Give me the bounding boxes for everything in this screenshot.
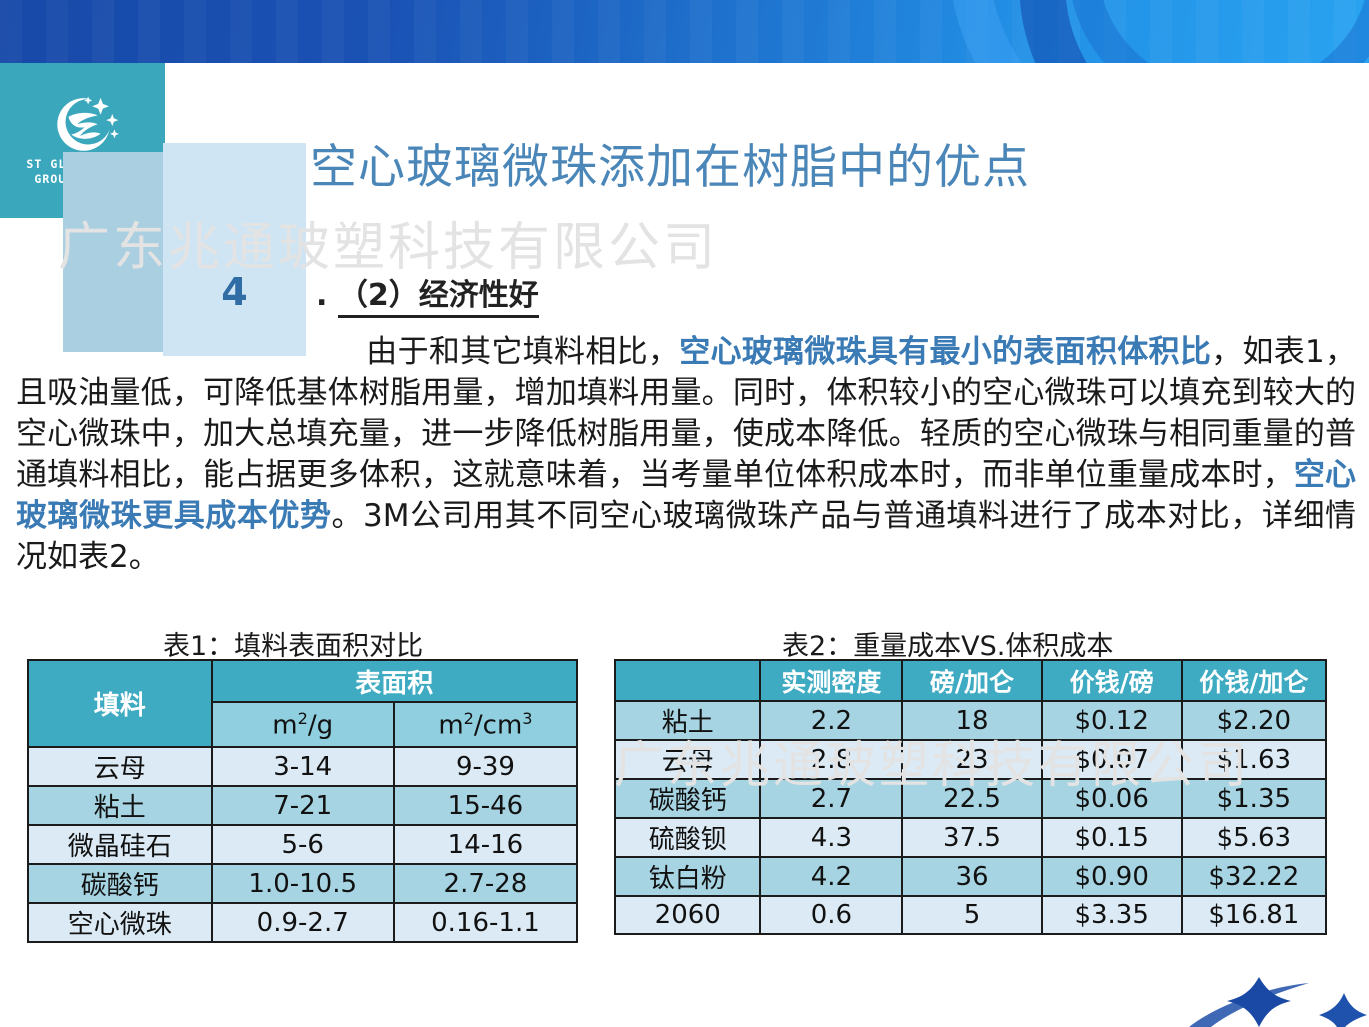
- table1-cell-v2: 14-16: [394, 825, 577, 864]
- table-row: 微晶硅石 5-6 14-16: [28, 825, 577, 864]
- table-row: 空心微珠 0.9-2.7 0.16-1.1: [28, 903, 577, 942]
- table-row: 钛白粉 4.2 36 $0.90 $32.22: [615, 857, 1326, 896]
- table1-cell-name: 粘土: [28, 786, 212, 825]
- table1-cell-v2: 15-46: [394, 786, 577, 825]
- table2-cell-pricegal: $5.63: [1182, 818, 1326, 857]
- table2-cell-pricelb: $0.06: [1042, 779, 1182, 818]
- table2-cell-density: 2.2: [760, 701, 902, 740]
- table2-cell-pricegal: $16.81: [1182, 896, 1326, 934]
- table2-header-price-per-lb: 价钱/磅: [1042, 660, 1182, 701]
- table2-cell-name: 碳酸钙: [615, 779, 760, 818]
- table2-cell-pricelb: $0.12: [1042, 701, 1182, 740]
- table1-cell-v1: 1.0-10.5: [212, 864, 394, 903]
- table-row: 粘土 2.2 18 $0.12 $2.20: [615, 701, 1326, 740]
- table2-caption: 表2：重量成本VS.体积成本: [782, 624, 1113, 663]
- table2-cell-name: 钛白粉: [615, 857, 760, 896]
- table-row: 云母 3-14 9-39: [28, 747, 577, 786]
- table2-cell-density: 2.7: [760, 779, 902, 818]
- table2-cell-density: 4.3: [760, 818, 902, 857]
- table1-cell-name: 碳酸钙: [28, 864, 212, 903]
- table2-header-lb-per-gal: 磅/加仑: [902, 660, 1041, 701]
- table2-cell-lbgal: 23: [902, 740, 1041, 779]
- table2-cell-pricegal: $1.35: [1182, 779, 1326, 818]
- table2-cell-name: 硫酸钡: [615, 818, 760, 857]
- footer-sparkle-decor-icon: [949, 969, 1369, 1027]
- footer-bar: 兆通玻塑集团有限公司 Siu Tung Glass&Plastic Group …: [0, 969, 1369, 1027]
- table-row: 云母 2.8 23 $0.07 $1.63: [615, 740, 1326, 779]
- table1-cell-name: 云母: [28, 747, 212, 786]
- table-row: 粘土 7-21 15-46: [28, 786, 577, 825]
- table1-cell-v1: 3-14: [212, 747, 394, 786]
- table-filler-surface-area: 填料 表面积 m2/g m2/cm3 云母 3-14 9-39 粘土 7-21 …: [27, 659, 578, 943]
- table2-cell-lbgal: 36: [902, 857, 1041, 896]
- decor-block-medium: [63, 152, 166, 352]
- section-bullet: .: [316, 278, 327, 313]
- table2-cell-pricelb: $3.35: [1042, 896, 1182, 934]
- table2-header-price-per-gal: 价钱/加仑: [1182, 660, 1326, 701]
- table2-cell-name: 云母: [615, 740, 760, 779]
- body-part-1: 由于和其它填料相比，: [366, 334, 679, 370]
- footer-brand: 兆通玻塑集团有限公司 Siu Tung Glass&Plastic Group …: [38, 978, 319, 1012]
- table2-cell-lbgal: 18: [902, 701, 1041, 740]
- table1-cell-name: 空心微珠: [28, 903, 212, 942]
- table2-cell-pricegal: $2.20: [1182, 701, 1326, 740]
- footer-company-cn: 兆通玻塑集团有限公司: [81, 979, 319, 999]
- table1-cell-v1: 7-21: [212, 786, 394, 825]
- decor-block-light: [163, 143, 306, 356]
- table2-cell-pricelb: $0.07: [1042, 740, 1182, 779]
- table-row: 硫酸钡 4.3 37.5 $0.15 $5.63: [615, 818, 1326, 857]
- footer-company-names: 兆通玻塑集团有限公司 Siu Tung Glass&Plastic Group …: [81, 979, 319, 1011]
- footer-company-en: Siu Tung Glass&Plastic Group Co Limited: [81, 1001, 319, 1012]
- section-heading-text: （2）经济性好: [338, 278, 539, 318]
- table1-header-name: 填料: [28, 660, 212, 747]
- table2-cell-lbgal: 37.5: [902, 818, 1041, 857]
- table-row: 碳酸钙 2.7 22.5 $0.06 $1.35: [615, 779, 1326, 818]
- table2-header-blank: [615, 660, 760, 701]
- table2-cell-density: 0.6: [760, 896, 902, 934]
- top-banner: [0, 0, 1369, 63]
- page-title: 空心玻璃微珠添加在树脂中的优点: [310, 128, 1210, 197]
- table1-header-group: 表面积: [212, 660, 577, 702]
- table2-header-row: 实测密度 磅/加仑 价钱/磅 价钱/加仑: [615, 660, 1326, 701]
- table2-cell-pricelb: $0.15: [1042, 818, 1182, 857]
- table1-cell-v2: 0.16-1.1: [394, 903, 577, 942]
- table2-cell-pricelb: $0.90: [1042, 857, 1182, 896]
- table1-header-row-1: 填料 表面积: [28, 660, 577, 702]
- section-number: 4: [163, 268, 306, 316]
- table1-caption: 表1：填料表面积对比: [163, 624, 423, 663]
- table2-cell-lbgal: 22.5: [902, 779, 1041, 818]
- table2-cell-pricegal: $32.22: [1182, 857, 1326, 896]
- slide-root: ST GLASS BEADS GROUP HK LTD 4 广东兆通玻塑科技有限…: [0, 0, 1369, 1027]
- glass-bead-swirl-icon: [38, 978, 72, 1012]
- section-heading: . （2）经济性好: [316, 270, 539, 314]
- table1-cell-v1: 5-6: [212, 825, 394, 864]
- body-highlight-1: 空心玻璃微珠具有最小的表面积体积比: [679, 334, 1211, 370]
- table2-cell-pricegal: $1.63: [1182, 740, 1326, 779]
- table1-cell-v2: 2.7-28: [394, 864, 577, 903]
- table2-cell-lbgal: 5: [902, 896, 1041, 934]
- table1-cell-v1: 0.9-2.7: [212, 903, 394, 942]
- glass-bead-swirl-icon: [46, 95, 120, 155]
- table2-header-density: 实测密度: [760, 660, 902, 701]
- table-row: 2060 0.6 5 $3.35 $16.81: [615, 896, 1326, 934]
- table-weight-vs-volume-cost: 实测密度 磅/加仑 价钱/磅 价钱/加仑 粘土 2.2 18 $0.12 $2.…: [614, 659, 1327, 935]
- table2-cell-name: 粘土: [615, 701, 760, 740]
- table2-cell-density: 2.8: [760, 740, 902, 779]
- table1-cell-v2: 9-39: [394, 747, 577, 786]
- body-paragraph: 由于和其它填料相比，空心玻璃微珠具有最小的表面积体积比，如表1，且吸油量低，可降…: [16, 332, 1356, 578]
- table2-cell-name: 2060: [615, 896, 760, 934]
- table1-unit-col-1: m2/g: [212, 702, 394, 747]
- table-row: 碳酸钙 1.0-10.5 2.7-28: [28, 864, 577, 903]
- banner-arc-inner-icon: [1069, 0, 1369, 63]
- table1-unit-col-2: m2/cm3: [394, 702, 577, 747]
- table1-cell-name: 微晶硅石: [28, 825, 212, 864]
- table2-cell-density: 4.2: [760, 857, 902, 896]
